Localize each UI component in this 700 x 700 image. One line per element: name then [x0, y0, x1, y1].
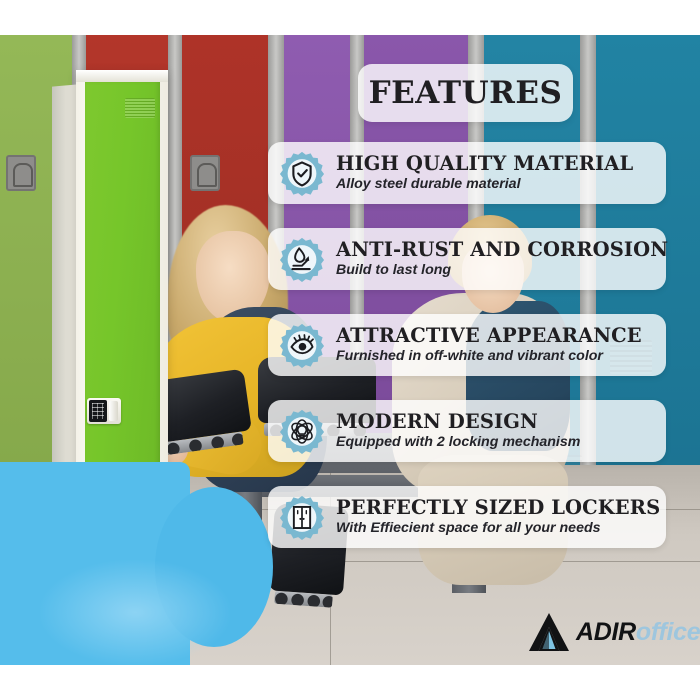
shield-check-icon	[279, 150, 325, 196]
feature-text: HIGH QUALITY MATERIAL Alloy steel durabl…	[336, 153, 633, 193]
feature-subtitle: Equipped with 2 locking mechanism	[336, 434, 580, 451]
feature-subtitle: Build to last long	[336, 262, 668, 279]
feature-text: MODERN DESIGN Equipped with 2 locking me…	[336, 411, 580, 451]
locker-keypad-lock	[87, 398, 121, 424]
keypad-icon	[89, 400, 107, 422]
top-white-margin	[0, 0, 700, 35]
logo-brand-primary: ADIR	[576, 618, 636, 646]
locker-latch-icon	[190, 155, 220, 191]
locker-doors-icon	[279, 494, 325, 540]
features-banner: FEATURES	[358, 64, 573, 122]
logo-wordmark: ADIRoffice	[576, 618, 700, 647]
adiroffice-logo: ADIRoffice	[528, 612, 700, 652]
feature-text: ATTRACTIVE APPEARANCE Furnished in off-w…	[336, 325, 642, 365]
feature-subtitle: Alloy steel durable material	[336, 176, 633, 193]
feature-row-high-quality-material: HIGH QUALITY MATERIAL Alloy steel durabl…	[268, 142, 666, 204]
features-title: FEATURES	[369, 75, 563, 111]
feature-row-anti-rust-and-corrosion: ANTI-RUST AND CORROSION Build to last lo…	[268, 228, 666, 290]
blue-accent-glow	[40, 560, 230, 665]
feature-row-modern-design: MODERN DESIGN Equipped with 2 locking me…	[268, 400, 666, 462]
feature-subtitle: Furnished in off-white and vibrant color	[336, 348, 642, 365]
bottom-white-margin	[0, 665, 700, 700]
logo-brand-secondary: office	[636, 618, 700, 646]
feature-title: PERFECTLY SIZED LOCKERS	[336, 497, 660, 518]
locker-top	[76, 70, 168, 82]
locker-latch-icon	[6, 155, 36, 191]
feature-title: ANTI-RUST AND CORROSION	[336, 239, 668, 260]
locker-handle	[109, 401, 118, 421]
eye-icon	[279, 322, 325, 368]
feature-subtitle: With Effiecient space for all your needs	[336, 520, 660, 537]
feature-title: HIGH QUALITY MATERIAL	[336, 153, 633, 174]
feature-text: PERFECTLY SIZED LOCKERS With Effiecient …	[336, 497, 660, 537]
feature-text: ANTI-RUST AND CORROSION Build to last lo…	[336, 239, 668, 279]
feature-row-perfectly-sized-lockers: PERFECTLY SIZED LOCKERS With Effiecient …	[268, 486, 666, 548]
locker-vent-top-icon	[125, 98, 155, 118]
marketing-infographic: FEATURES HIGH QUALITY MATERIAL Alloy ste…	[0, 0, 700, 700]
water-drop-rust-icon	[279, 236, 325, 282]
feature-title: ATTRACTIVE APPEARANCE	[336, 325, 642, 346]
feature-title: MODERN DESIGN	[336, 411, 580, 432]
lightbulb-atom-icon	[279, 408, 325, 454]
feature-row-attractive-appearance: ATTRACTIVE APPEARANCE Furnished in off-w…	[268, 314, 666, 376]
adir-chevron-logo-icon	[528, 612, 570, 652]
